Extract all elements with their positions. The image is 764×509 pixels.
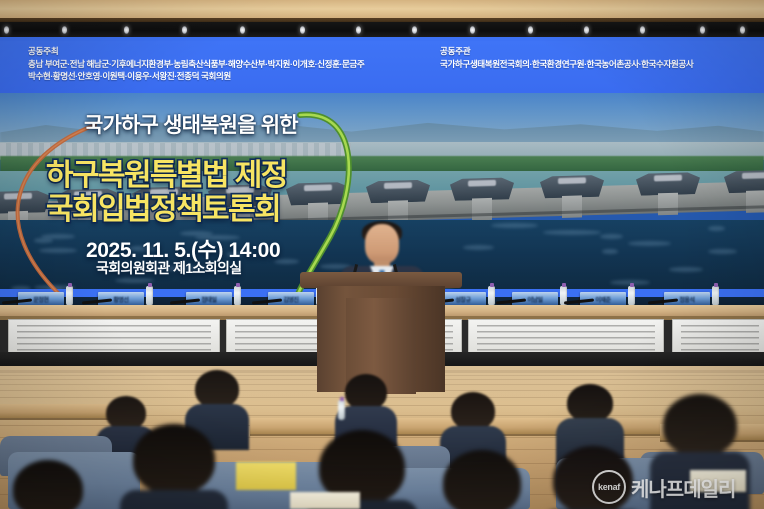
- organizer-heading: 공동주관: [440, 45, 760, 57]
- audience-head: [195, 370, 239, 408]
- ceiling-lamp: [182, 26, 187, 34]
- audience-head: [133, 424, 215, 494]
- co-host-heading: 공동주최: [28, 45, 428, 57]
- co-host-line-2: 박수현·황명선·안호영·이원택·이용우·서왕진·전종덕 국회의원: [28, 71, 428, 83]
- audience-person: [0, 460, 96, 509]
- conference-photo: 공동주최 충남 부여군·전남 해남군·기후에너지환경부·농림축산식품부·해양수산…: [0, 0, 764, 509]
- audience-head: [663, 394, 737, 456]
- co-host-block: 공동주최 충남 부여군·전남 해남군·기후에너지환경부·농림축산식품부·해양수산…: [28, 45, 428, 82]
- organizer-line-1: 국가하구생태복원전국회의·한국환경연구원·한국농어촌공사·한국수자원공사: [440, 59, 760, 71]
- water-bottle: [712, 286, 719, 306]
- ceiling-lamp: [300, 26, 305, 34]
- ceiling-lamp: [4, 26, 9, 34]
- ceiling-lamp: [640, 26, 645, 34]
- water-bottle: [146, 286, 153, 306]
- water-bottle: [66, 286, 73, 306]
- audience-head: [13, 460, 83, 509]
- handout-paper: [290, 492, 360, 509]
- handout-paper: [236, 462, 296, 490]
- water-bottle: [234, 286, 241, 306]
- ceiling-lamp: [356, 26, 361, 34]
- water-bottle: [628, 286, 635, 306]
- audience-head: [567, 384, 613, 422]
- audience-head: [345, 374, 387, 410]
- water-bottle: [338, 400, 345, 420]
- audience-head: [443, 450, 521, 509]
- ceiling-lamp: [124, 26, 129, 34]
- ceiling-lamp: [528, 26, 533, 34]
- organizer-block: 공동주관 국가하구생태복원전국회의·한국환경연구원·한국농어촌공사·한국수자원공…: [440, 45, 760, 71]
- ceiling-lamp: [240, 26, 245, 34]
- co-host-line-1: 충남 부여군·전남 해남군·기후에너지환경부·농림축산식품부·해양수산부·박지원…: [28, 59, 428, 71]
- audience-head: [451, 392, 495, 430]
- ceiling-light-strip: [0, 22, 764, 38]
- audience-person: [120, 424, 228, 509]
- watermark: kenaf 케나프데일리: [592, 470, 735, 504]
- ceiling-lamp: [412, 26, 417, 34]
- ceiling-lamp: [584, 26, 589, 34]
- watermark-label: 케나프데일리: [631, 473, 735, 502]
- kenaf-logo-text: kenaf: [598, 482, 620, 492]
- speaker-head: [365, 224, 399, 264]
- ceiling-lamp: [62, 26, 67, 34]
- ceiling-lamp: [700, 26, 705, 34]
- audience-person: [430, 450, 534, 509]
- kenaf-logo-icon: kenaf: [592, 470, 626, 504]
- audience-torso: [120, 490, 228, 509]
- water-bottle: [488, 286, 495, 306]
- ceiling-lamp: [470, 26, 475, 34]
- ceiling-lamp: [740, 26, 745, 34]
